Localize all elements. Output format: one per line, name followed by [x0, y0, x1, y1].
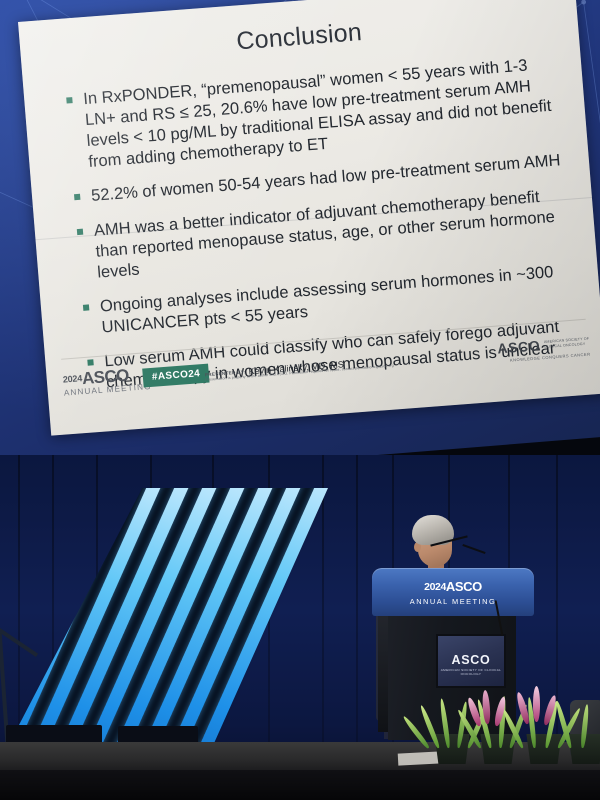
podium-title: 2024ASCO	[424, 579, 482, 594]
podium-brand: ASCO	[446, 579, 482, 594]
podium-header-panel: 2024ASCO ANNUAL MEETING	[372, 568, 534, 616]
podium-year: 2024	[424, 581, 446, 593]
annual-meeting-lockup: 2024ASCO ANNUAL MEETING	[62, 364, 152, 398]
bullet-square-icon	[66, 97, 72, 103]
bullet-square-icon	[83, 304, 89, 310]
presentation-slide: Conclusion In RxPONDER, “premenopausal” …	[18, 0, 600, 436]
bullet-square-icon	[74, 194, 80, 200]
conference-stage-photo: Conclusion In RxPONDER, “premenopausal” …	[0, 0, 600, 800]
plant-pot	[432, 734, 472, 764]
monitor-asco-wordmark: ASCO	[438, 653, 504, 667]
meeting-subtitle: ANNUAL MEETING	[64, 382, 152, 398]
stage-front-edge	[0, 770, 600, 800]
meeting-year: 2024	[62, 373, 82, 384]
monitor-asco-subtext: AMERICAN SOCIETY OF CLINICAL ONCOLOGY	[438, 668, 504, 676]
bullet-square-icon	[77, 228, 83, 234]
decorative-plants	[420, 686, 600, 764]
hashtag-badge: #ASCO24	[142, 364, 210, 388]
podium-branding: 2024ASCO ANNUAL MEETING	[372, 579, 534, 605]
podium-subtitle: ANNUAL MEETING	[372, 598, 534, 605]
podium-monitor: ASCO AMERICAN SOCIETY OF CLINICAL ONCOLO…	[436, 634, 506, 688]
asco-logo-subtext: AMERICAN SOCIETY OFCLINICAL ONCOLOGY	[544, 336, 590, 350]
asco-wordmark: ASCO	[497, 337, 541, 356]
plant-pot	[524, 734, 564, 764]
asco-logo: ASCOAMERICAN SOCIETY OFCLINICAL ONCOLOGY…	[497, 333, 591, 364]
